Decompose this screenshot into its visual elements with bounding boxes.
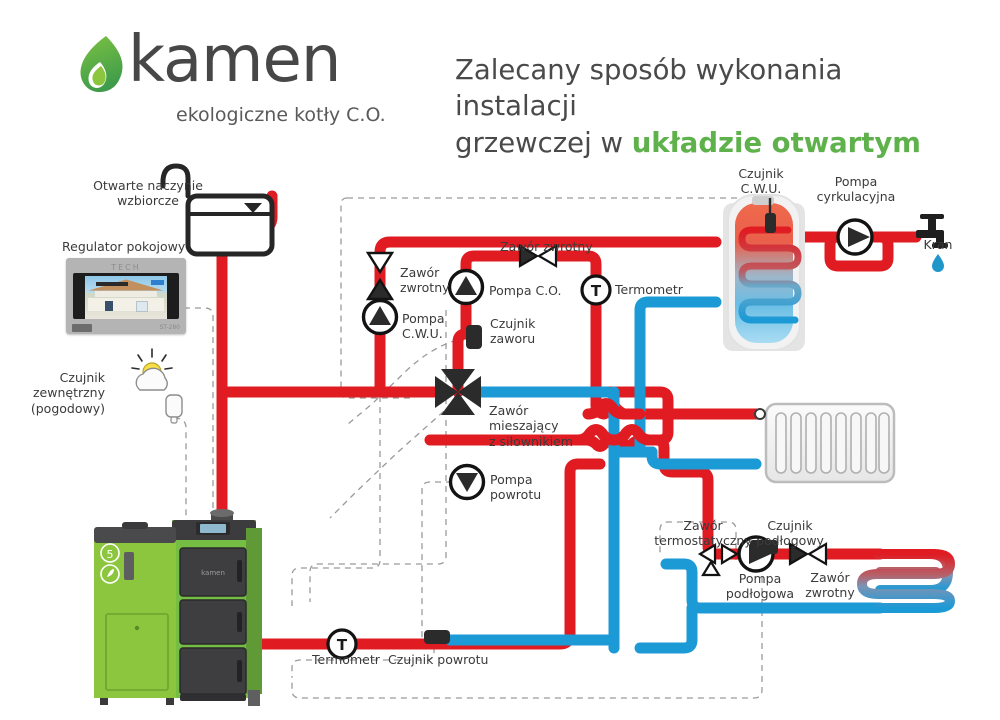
cwu-sensor-probe-icon bbox=[765, 213, 776, 233]
label-check-valve-top: Zawór zwrotny bbox=[500, 239, 593, 254]
label-room-regulator: Regulator pokojowy bbox=[62, 239, 185, 254]
label-cwu-sensor: Czujnik C.W.U. bbox=[713, 166, 809, 197]
svg-text:kamen: kamen bbox=[201, 569, 225, 577]
pump-cwu-icon bbox=[364, 301, 397, 334]
water-drop-icon bbox=[932, 254, 944, 272]
sun-cloud-icon bbox=[132, 349, 172, 390]
label-expansion-vessel: Otwarte naczynie wzbiorcze bbox=[78, 178, 218, 209]
label-thermometer-top: Termometr bbox=[615, 282, 683, 297]
label-pump-cwu: Pompa C.W.U. bbox=[402, 311, 445, 342]
label-check-valve-cwu: Zawór zwrotny bbox=[400, 265, 450, 296]
pump-return-icon bbox=[451, 466, 484, 499]
title-line-1: Zalecany sposób wykonania instalacji bbox=[455, 54, 842, 122]
label-mixing-valve: Zawór mieszający z siłownikiem bbox=[489, 403, 573, 449]
house-graphic bbox=[85, 276, 167, 319]
label-valve-sensor: Czujnik zaworu bbox=[490, 316, 535, 347]
underfloor-heating-loop-icon bbox=[862, 554, 952, 608]
label-circulation-pump: Pompa cyrkulacyjna bbox=[804, 174, 908, 205]
label-thermometer-bottom: Termometr bbox=[312, 652, 380, 667]
hot-water-tank-icon bbox=[723, 195, 805, 351]
screen-badge bbox=[151, 280, 164, 284]
wire-mixing-valve bbox=[330, 404, 452, 518]
house-door bbox=[105, 301, 113, 311]
label-return-pump: Pompa powrotu bbox=[490, 472, 541, 503]
boiler-illustration: kamen 5 bbox=[94, 509, 262, 706]
room-regulator-device[interactable]: TECH ST-280 bbox=[66, 258, 186, 334]
return-sensor-icon bbox=[424, 630, 450, 644]
brand-name: kamen bbox=[128, 28, 340, 92]
diagram-canvas: T T bbox=[0, 0, 1000, 720]
return-risers bbox=[614, 310, 640, 648]
regulator-logo-mark bbox=[72, 324, 92, 332]
label-check-valve-floor: Zawór zwrotny bbox=[790, 570, 870, 601]
brand-tagline: ekologiczne kotły C.O. bbox=[176, 104, 386, 126]
thermometer-top-icon: T bbox=[582, 276, 610, 304]
label-pump-co: Pompa C.O. bbox=[489, 283, 562, 298]
radiator-valve-icon bbox=[755, 409, 765, 419]
title-line-2-accent: układzie otwartym bbox=[632, 127, 921, 159]
regulator-model-label: ST-280 bbox=[159, 324, 180, 331]
regulator-screen[interactable] bbox=[73, 273, 179, 319]
label-return-sensor: Czujnik powrotu bbox=[388, 652, 488, 667]
house-window bbox=[136, 301, 149, 312]
wire-return-pump bbox=[352, 482, 452, 644]
label-weather-sensor: Czujnik zewnętrzny (pogodowy) bbox=[20, 370, 105, 416]
label-tap: Kran bbox=[908, 237, 968, 252]
four-way-mixing-valve-icon bbox=[435, 369, 481, 415]
label-floor-sensor: Czujnik podłogowy bbox=[745, 518, 835, 549]
svg-text:T: T bbox=[591, 282, 602, 300]
svg-text:5: 5 bbox=[107, 548, 114, 561]
regulator-brand-label: TECH bbox=[66, 263, 186, 272]
floor-band-upper bbox=[95, 291, 157, 298]
radiator-icon bbox=[755, 404, 894, 482]
valve-sensor-icon bbox=[466, 325, 482, 349]
title-line-2-prefix: grzewczej w bbox=[455, 127, 632, 159]
screen-tag bbox=[96, 282, 129, 286]
pump-co-icon bbox=[450, 271, 483, 304]
floor-band-lower bbox=[88, 298, 163, 311]
page-title: Zalecany sposób wykonania instalacji grz… bbox=[455, 52, 955, 161]
label-thermostatic-valve: Zawór termostatyczny bbox=[648, 518, 758, 549]
pump-circulation-icon bbox=[838, 220, 872, 254]
